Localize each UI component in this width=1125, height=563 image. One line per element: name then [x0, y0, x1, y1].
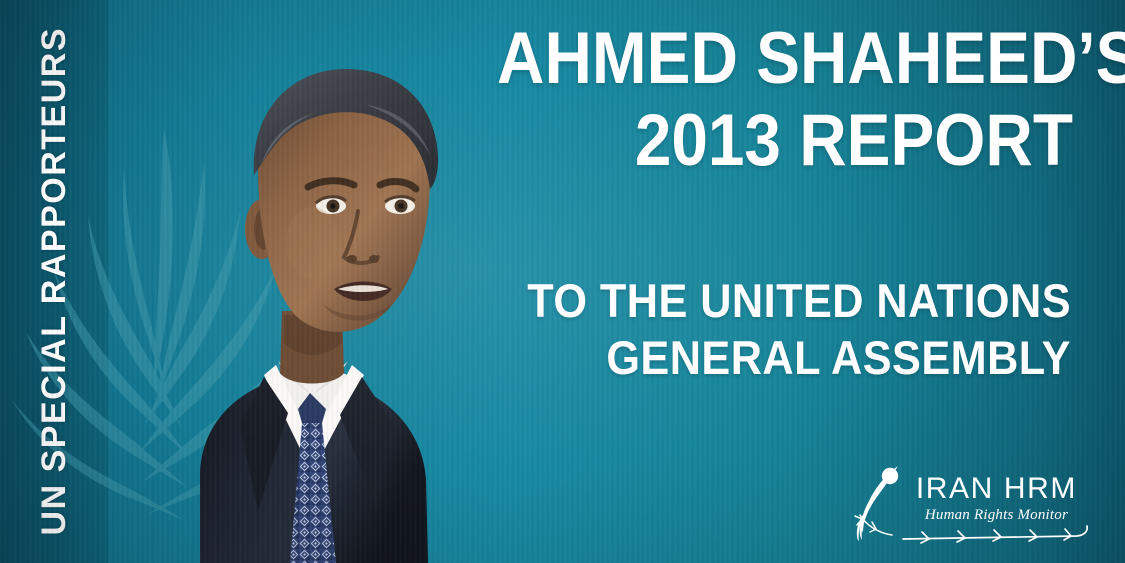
side-label-text: UN SPECIAL RAPPORTEURS [37, 27, 71, 535]
headline: AHMED SHAHEED’S 2013 REPORT [433, 24, 1073, 176]
subheadline-line-2: GENERAL ASSEMBLY [482, 334, 1071, 382]
headline-line-2: 2013 REPORT [497, 106, 1073, 176]
banner-root: UN SPECIAL RAPPORTEURS [0, 0, 1125, 563]
headline-line-1: AHMED SHAHEED’S [497, 24, 1073, 94]
side-label: UN SPECIAL RAPPORTEURS [0, 0, 108, 563]
barbed-wire-icon [901, 523, 1091, 549]
logo-text-block: IRAN HRM Human Rights Monitor [916, 463, 1077, 525]
logo-tagline: Human Rights Monitor [916, 506, 1077, 525]
subheadline: TO THE UNITED NATIONS GENERAL ASSEMBLY [431, 277, 1071, 382]
subheadline-line-1: TO THE UNITED NATIONS [482, 277, 1071, 325]
logo-name: IRAN HRM [916, 474, 1077, 504]
